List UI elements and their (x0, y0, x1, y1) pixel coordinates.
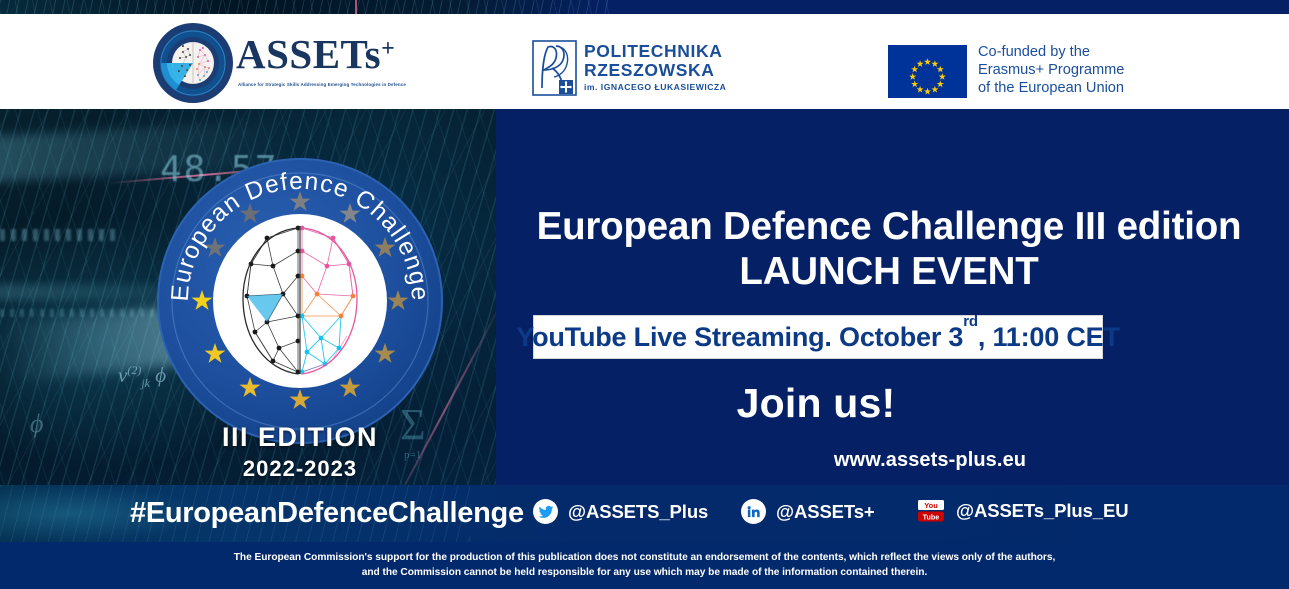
politechnika-line-2: RZESZOWSKA (584, 61, 726, 80)
background-math-phi: ϕ (30, 409, 43, 439)
social-account-linkedin[interactable]: @ASSETs+ (741, 499, 875, 524)
page-title: European Defence Challenge III edition L… (500, 204, 1278, 294)
youtube-icon[interactable]: You Tube (916, 499, 946, 523)
date-suffix: , 11:00 CET (978, 322, 1120, 352)
background-dot-row-1 (0, 229, 120, 241)
disclaimer-line-2: and the Commission cannot be held respon… (185, 566, 1105, 581)
top-strip (0, 0, 1289, 14)
edition-label: III EDITION (155, 422, 445, 453)
main-content-panel (496, 109, 1289, 485)
eu-text-line-3: of the European Union (978, 80, 1124, 98)
politechnika-rzeszowska-monogram-icon (532, 40, 577, 96)
politechnika-rzeszowska-logo: POLITECHNIKA RZESZOWSKA im. IGNACEGO ŁUK… (532, 40, 732, 98)
eu-text-line-1: Co-funded by the (978, 44, 1124, 62)
youtube-handle[interactable]: @ASSETs_Plus_EU (956, 500, 1128, 522)
politechnika-rzeszowska-wordmark: POLITECHNIKA RZESZOWSKA im. IGNACEGO ŁUK… (584, 42, 726, 92)
sponsor-logo-header: ASSETs+ Alliance for Strategic Skills Ad… (0, 14, 1289, 109)
call-to-action: Join us! (536, 380, 1096, 427)
eu-text-line-2: Erasmus+ Programme (978, 62, 1124, 80)
european-union-flag-icon (888, 45, 967, 98)
assets-plus-tagline: Alliance for Strategic Skills Addressing… (238, 82, 401, 87)
date-ordinal: rd (963, 313, 978, 330)
twitter-handle[interactable]: @ASSETS_Plus (568, 501, 708, 523)
social-account-twitter[interactable]: @ASSETS_Plus (533, 499, 708, 524)
erasmus-cofunding-text: Co-funded by the Erasmus+ Programme of t… (978, 44, 1124, 97)
headline-line-2: LAUNCH EVENT (500, 249, 1278, 294)
edition-years: 2022-2023 (155, 456, 445, 482)
linkedin-icon[interactable] (741, 499, 766, 524)
twitter-icon[interactable] (533, 499, 558, 524)
disclaimer-line-1: The European Commission's support for th… (185, 551, 1105, 566)
politechnika-line-3: im. IGNACEGO ŁUKASIEWICZA (584, 82, 726, 92)
website-url[interactable]: www.assets-plus.eu (700, 449, 1160, 472)
tech-background-panel: 48.57 v(2)jk ϕ ϕ Σ p=1 (0, 109, 496, 485)
linkedin-handle[interactable]: @ASSETs+ (776, 501, 875, 523)
eu-disclaimer: The European Commission's support for th… (0, 542, 1289, 589)
assets-plus-wordmark: ASSETs+ (236, 34, 395, 75)
event-poster: ASSETs+ Alliance for Strategic Skills Ad… (0, 0, 1289, 589)
eu-disclaimer-text: The European Commission's support for th… (185, 551, 1105, 580)
european-defence-challenge-brain-emblem-icon: European Defence Challenge (155, 156, 445, 446)
erasmus-cofunding-logo: Co-funded by the Erasmus+ Programme of t… (888, 45, 1148, 99)
event-datetime-text: YouTube Live Streaming. October 3rd, 11:… (516, 322, 1119, 353)
social-account-youtube[interactable]: You Tube @ASSETs_Plus_EU (916, 499, 1128, 523)
poster-main: 48.57 v(2)jk ϕ ϕ Σ p=1 (0, 109, 1289, 485)
svg-text:You: You (924, 501, 938, 510)
assets-plus-brain-pie-logo-icon (152, 22, 234, 104)
event-datetime-box: YouTube Live Streaming. October 3rd, 11:… (533, 315, 1103, 359)
campaign-hashtag: #EuropeanDefenceChallenge (130, 497, 524, 530)
date-prefix: YouTube Live Streaming. October 3 (516, 322, 963, 352)
assets-plus-logo: ASSETs+ Alliance for Strategic Skills Ad… (152, 20, 382, 104)
svg-text:Tube: Tube (923, 512, 940, 521)
politechnika-line-1: POLITECHNIKA (584, 42, 726, 61)
social-media-bar: #EuropeanDefenceChallenge @ASSETS_Plus @… (0, 485, 1289, 542)
top-strip-texture (0, 0, 610, 14)
headline-line-1: European Defence Challenge III edition (500, 204, 1278, 249)
challenge-emblem-group: European Defence Challenge (155, 156, 445, 456)
top-strip-accent-line (355, 0, 357, 14)
